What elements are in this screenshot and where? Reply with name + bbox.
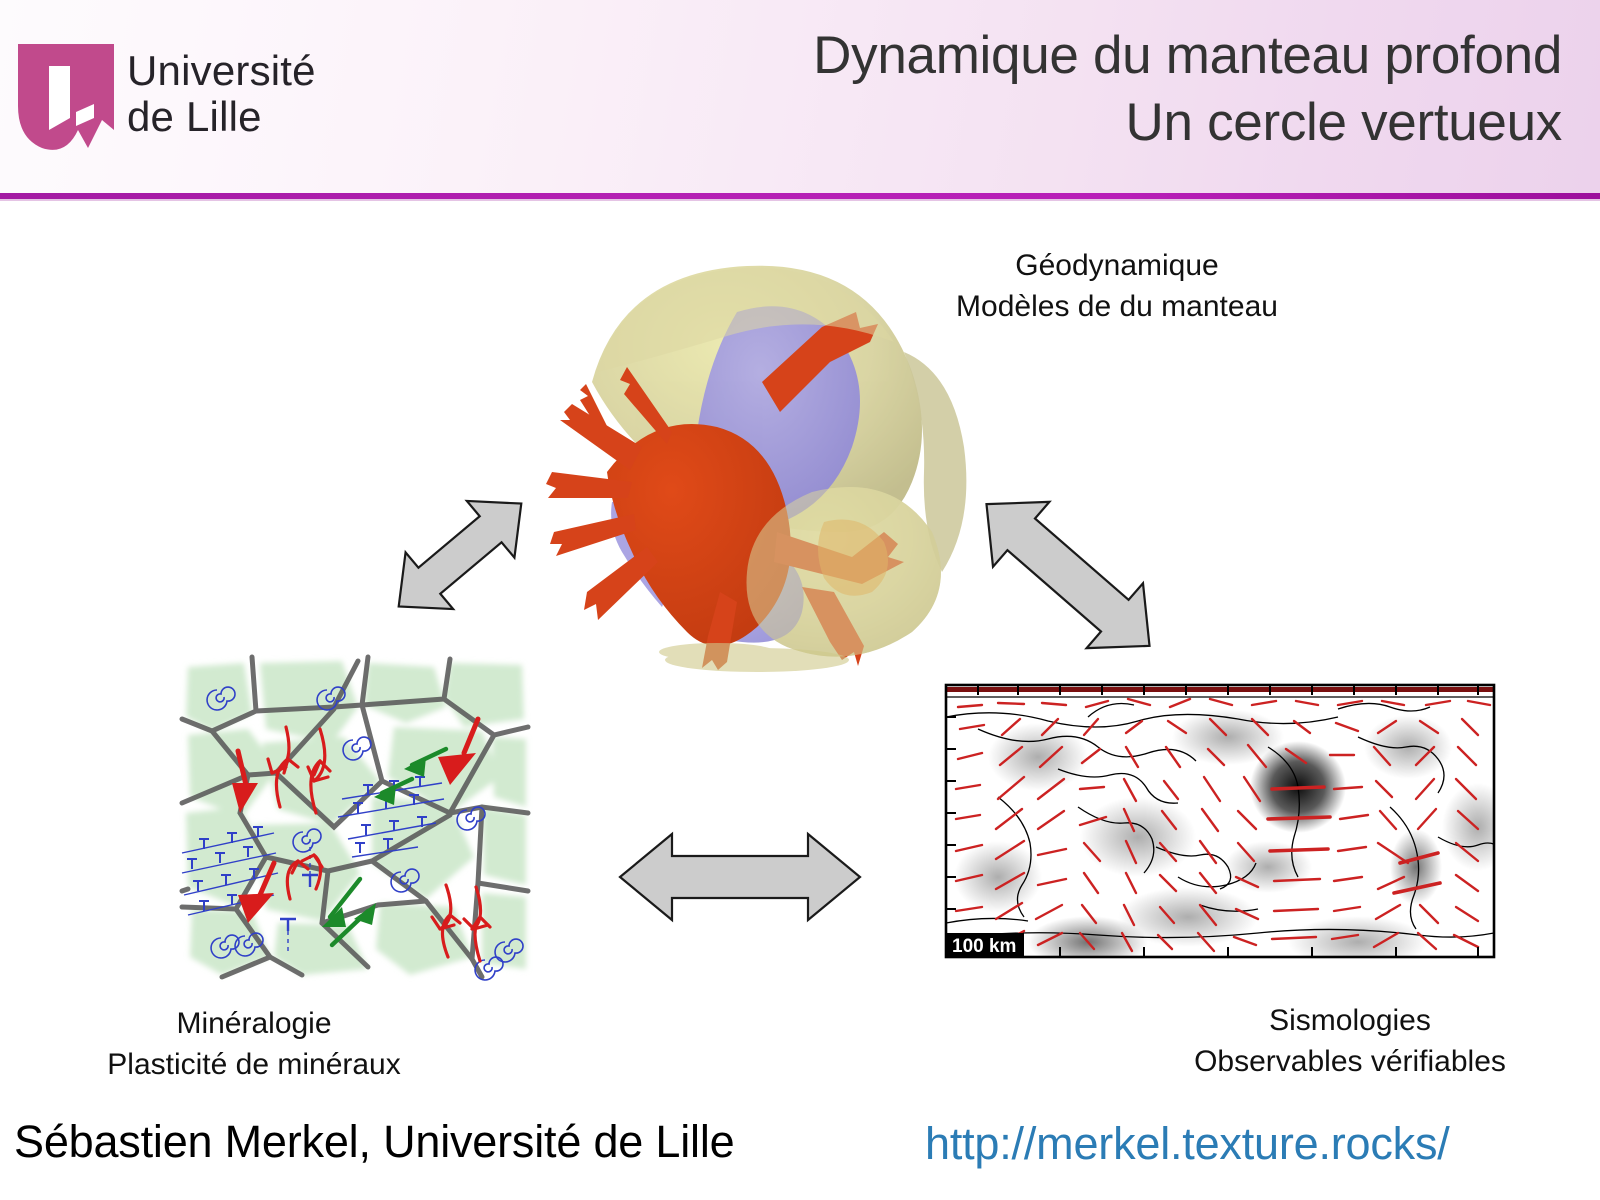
- arrow-geodynamique-mineralogie: [368, 478, 552, 632]
- logo-line-2: de Lille: [127, 94, 316, 140]
- footer-url-link[interactable]: http://merkel.texture.rocks/: [925, 1118, 1450, 1170]
- title-line-2: Un cercle vertueux: [462, 89, 1562, 156]
- header-accent-rule-shadow: [0, 199, 1600, 201]
- map-scale-label: 100 km: [952, 936, 1016, 957]
- page-title: Dynamique du manteau profond Un cercle v…: [462, 22, 1562, 156]
- university-name: Université de Lille: [127, 48, 316, 140]
- arrow-mineralogie-sismologie: [616, 826, 864, 928]
- logo-line-1: Université: [127, 47, 316, 94]
- label-mineralogie: Minéralogie Plasticité de minéraux: [0, 1003, 514, 1085]
- label-sismologie: Sismologies Observables vérifiables: [1100, 1000, 1600, 1082]
- mineral-microstructure-figure: [182, 657, 528, 979]
- label-geodynamique-line2: Modèles de du manteau: [882, 286, 1352, 327]
- label-geodynamique-line1: Géodynamique: [1015, 249, 1218, 282]
- arrow-geodynamique-sismologie: [950, 472, 1186, 678]
- label-mineralogie-line2: Plasticité de minéraux: [0, 1044, 514, 1085]
- seismic-anisotropy-map-figure: 100 km: [938, 677, 1502, 967]
- label-sismologie-line1: Sismologies: [1269, 1004, 1431, 1037]
- title-line-1: Dynamique du manteau profond: [813, 26, 1562, 85]
- label-geodynamique: Géodynamique Modèles de du manteau: [882, 245, 1352, 327]
- label-sismologie-line2: Observables vérifiables: [1100, 1041, 1600, 1082]
- footer-author: Sébastien Merkel, Université de Lille: [14, 1116, 734, 1168]
- slide: Université de Lille Dynamique du manteau…: [0, 0, 1600, 1200]
- label-mineralogie-line1: Minéralogie: [176, 1007, 331, 1040]
- map-scale-bar: 100 km: [946, 933, 1024, 957]
- university-lille-logo-icon: [18, 44, 114, 156]
